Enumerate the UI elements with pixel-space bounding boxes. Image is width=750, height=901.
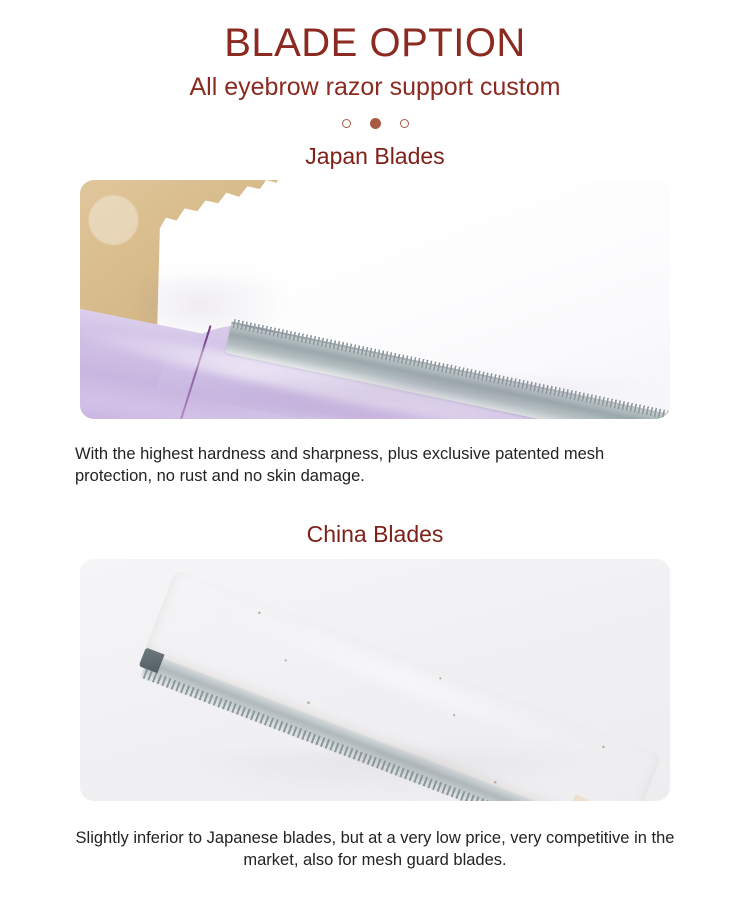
- carousel-dot-1[interactable]: [342, 119, 351, 128]
- razor-drop-shadow: [170, 753, 590, 795]
- product-photo-japan-blades: [80, 180, 670, 419]
- carousel-dot-3[interactable]: [400, 119, 409, 128]
- caption-china-text: Slightly inferior to Japanese blades, bu…: [69, 827, 681, 871]
- caption-japan-blades: With the highest hardness and sharpness,…: [69, 443, 681, 487]
- section-heading-china: China Blades: [0, 521, 750, 548]
- section-heading-japan: Japan Blades: [0, 143, 750, 170]
- page-title: BLADE OPTION: [0, 22, 750, 64]
- carousel-dots: [0, 116, 750, 130]
- page-subtitle: All eyebrow razor support custom: [0, 72, 750, 102]
- page-header: BLADE OPTION All eyebrow razor support c…: [0, 0, 750, 102]
- caption-japan-text: With the highest hardness and sharpness,…: [75, 443, 681, 487]
- razor-drop-shadow: [140, 381, 660, 419]
- caption-china-blades: Slightly inferior to Japanese blades, bu…: [69, 827, 681, 871]
- carousel-dot-2-active[interactable]: [370, 118, 381, 129]
- product-detail-page: BLADE OPTION All eyebrow razor support c…: [0, 0, 750, 901]
- product-photo-china-blades: [80, 559, 670, 801]
